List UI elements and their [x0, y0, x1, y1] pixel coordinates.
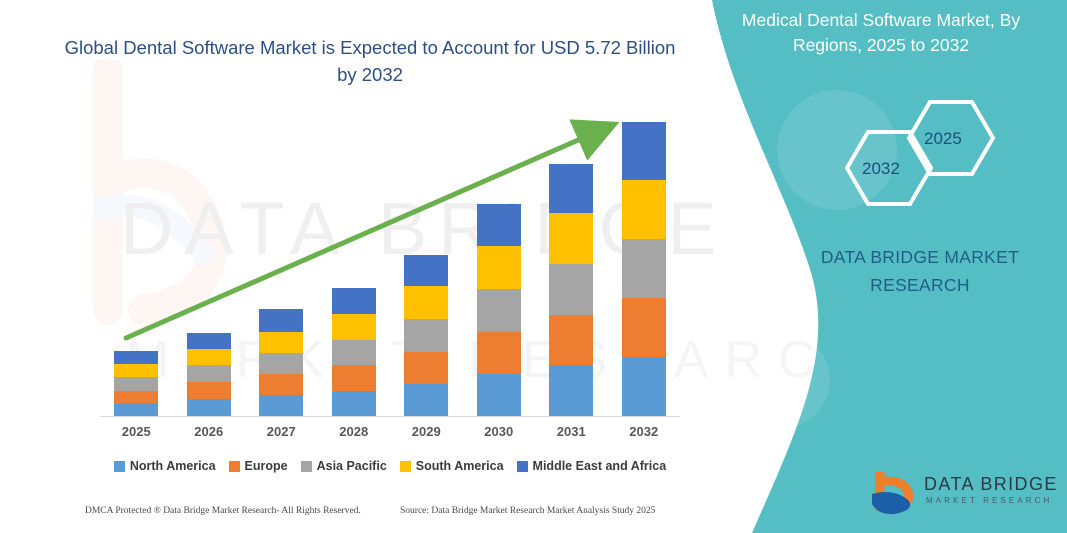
- footer: DMCA Protected ® Data Bridge Market Rese…: [0, 506, 700, 526]
- legend-label: Europe: [245, 459, 288, 473]
- x-axis-labels: 20252026202720282029203020312032: [100, 424, 680, 446]
- legend-item-south-america[interactable]: South America: [400, 459, 504, 473]
- bar-segment: [404, 319, 448, 352]
- bar-segment: [404, 286, 448, 319]
- bar-segment: [114, 403, 158, 416]
- panel-brand-text: DATA BRIDGE MARKET RESEARCH: [800, 243, 1040, 299]
- bar-segment: [259, 353, 303, 374]
- legend-label: South America: [416, 459, 504, 473]
- infographic-root: DATA BRIDGE MARKET RESEARCH Global Denta…: [0, 0, 1067, 533]
- bar-segment: [332, 314, 376, 340]
- x-axis-line: [100, 416, 680, 417]
- legend-label: Middle East and Africa: [533, 459, 667, 473]
- bar-segment: [187, 333, 231, 349]
- chart-legend: North AmericaEuropeAsia PacificSouth Ame…: [100, 456, 680, 476]
- x-label-2031: 2031: [541, 424, 601, 439]
- legend-item-middle-east-and-africa[interactable]: Middle East and Africa: [517, 459, 667, 473]
- legend-swatch-icon: [301, 461, 312, 472]
- bar-segment: [114, 351, 158, 365]
- legend-label: North America: [130, 459, 216, 473]
- bar-segment: [332, 391, 376, 416]
- hex-label-2032: 2032: [862, 159, 900, 179]
- company-logo: DATA BRIDGE MARKET RESEARCH: [868, 472, 1058, 518]
- bar-segment: [549, 365, 593, 416]
- bar-segment: [332, 365, 376, 390]
- bar-segment: [259, 309, 303, 331]
- bar-segment: [187, 365, 231, 382]
- bar-segment: [622, 298, 666, 357]
- bar-2027[interactable]: [259, 309, 303, 416]
- legend-swatch-icon: [114, 461, 125, 472]
- bar-segment: [259, 395, 303, 416]
- bar-segment: [187, 349, 231, 366]
- bar-segment: [187, 382, 231, 399]
- x-label-2029: 2029: [396, 424, 456, 439]
- stacked-bar-chart: [100, 110, 680, 416]
- bar-segment: [549, 164, 593, 214]
- legend-item-north-america[interactable]: North America: [114, 459, 216, 473]
- bar-2025[interactable]: [114, 351, 158, 416]
- bar-segment: [404, 352, 448, 385]
- bar-2026[interactable]: [187, 333, 231, 416]
- x-label-2025: 2025: [106, 424, 166, 439]
- legend-swatch-icon: [517, 461, 528, 472]
- legend-label: Asia Pacific: [317, 459, 387, 473]
- bar-segment: [114, 377, 158, 391]
- bar-2030[interactable]: [477, 204, 521, 416]
- bar-segment: [622, 239, 666, 298]
- panel-title: Medical Dental Software Market, By Regio…: [721, 8, 1041, 58]
- bar-2028[interactable]: [332, 288, 376, 416]
- x-label-2032: 2032: [614, 424, 674, 439]
- x-label-2027: 2027: [251, 424, 311, 439]
- bar-segment: [114, 391, 158, 404]
- footer-source: Source: Data Bridge Market Research Mark…: [400, 506, 655, 516]
- bar-2032[interactable]: [622, 122, 666, 416]
- bar-segment: [259, 332, 303, 353]
- page-title: Global Dental Software Market is Expecte…: [60, 34, 680, 88]
- legend-swatch-icon: [229, 461, 240, 472]
- logo-name: DATA BRIDGE: [924, 474, 1058, 495]
- bar-segment: [477, 374, 521, 416]
- bar-segment: [404, 255, 448, 287]
- bar-segment: [549, 264, 593, 315]
- legend-item-europe[interactable]: Europe: [229, 459, 288, 473]
- bar-segment: [404, 384, 448, 416]
- footer-copyright: DMCA Protected ® Data Bridge Market Rese…: [85, 506, 361, 516]
- bar-segment: [622, 357, 666, 416]
- hex-label-2025: 2025: [924, 129, 962, 149]
- bar-segment: [332, 288, 376, 313]
- bar-segment: [549, 213, 593, 264]
- logo-tagline: MARKET RESEARCH: [926, 496, 1052, 505]
- legend-swatch-icon: [400, 461, 411, 472]
- bar-segment: [477, 289, 521, 331]
- bar-segment: [549, 315, 593, 366]
- bar-segment: [622, 180, 666, 239]
- year-hexagons: 2025 2032: [826, 98, 1026, 223]
- bar-segment: [477, 332, 521, 374]
- x-label-2026: 2026: [179, 424, 239, 439]
- bar-segment: [477, 246, 521, 289]
- bar-segment: [622, 122, 666, 180]
- bar-segment: [332, 340, 376, 365]
- bar-2031[interactable]: [549, 164, 593, 416]
- hexagon-shapes-icon: [826, 98, 1026, 223]
- x-label-2030: 2030: [469, 424, 529, 439]
- bar-2029[interactable]: [404, 255, 448, 416]
- legend-item-asia-pacific[interactable]: Asia Pacific: [301, 459, 387, 473]
- bar-segment: [187, 399, 231, 416]
- bar-segment: [259, 374, 303, 395]
- bar-segment: [477, 204, 521, 246]
- bar-segment: [114, 364, 158, 377]
- x-label-2028: 2028: [324, 424, 384, 439]
